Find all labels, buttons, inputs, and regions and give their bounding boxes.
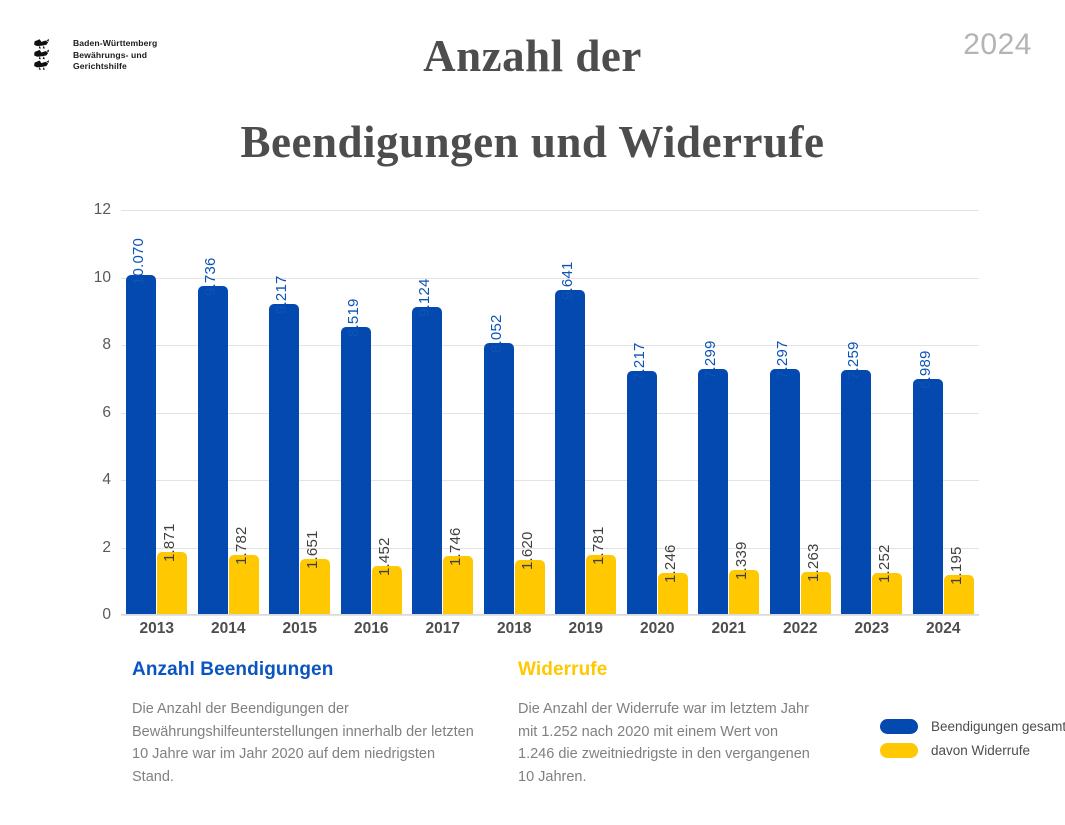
y-axis-tick-10: 10: [94, 269, 111, 287]
x-axis-tick-2013: 2013: [126, 620, 187, 638]
bar-group: 9.2171.651: [269, 210, 330, 615]
bar-group: 7.2971.263: [770, 210, 831, 615]
footer-heading-beendigungen: Anzahl Beendigungen: [132, 659, 477, 681]
bar-blue[interactable]: [913, 379, 943, 615]
bar-value-label: 6.989: [917, 351, 934, 390]
bar-value-label: 1.339: [733, 541, 750, 580]
bar-value-label: 1.452: [376, 537, 393, 576]
bar-group: 8.5191.452: [341, 210, 402, 615]
y-axis-tick-0: 0: [102, 606, 111, 624]
bar-value-label: 7.299: [702, 340, 719, 379]
bar-blue[interactable]: [698, 369, 728, 615]
bar-value-label: 7.217: [631, 343, 648, 382]
bar-group: 7.2171.246: [627, 210, 688, 615]
y-axis-tick-4: 4: [102, 471, 111, 489]
footer-heading-widerrufe: Widerrufe: [518, 659, 818, 681]
bar-group: 9.1241.746: [412, 210, 473, 615]
bar-group: 9.7361.782: [198, 210, 259, 615]
chart-legend: Beendigungen gesamtdavon Widerrufe: [880, 714, 1065, 762]
chart-bars-area: 10.0701.8719.7361.7829.2171.6518.5191.45…: [121, 210, 979, 615]
bar-value-label: 7.259: [845, 341, 862, 380]
bar-blue[interactable]: [341, 327, 371, 615]
x-axis-tick-2022: 2022: [770, 620, 831, 638]
bar-blue[interactable]: [555, 290, 585, 615]
legend-item[interactable]: davon Widerrufe: [880, 738, 1065, 762]
footer-column-widerrufe: Widerrufe Die Anzahl der Widerrufe war i…: [518, 659, 818, 788]
bar-value-label: 1.782: [233, 526, 250, 565]
bar-blue[interactable]: [770, 369, 800, 615]
bar-group: 6.9891.195: [913, 210, 974, 615]
bar-value-label: 9.736: [202, 258, 219, 297]
bar-value-label: 10.070: [130, 238, 147, 285]
y-axis-tick-2: 2: [102, 539, 111, 557]
legend-item[interactable]: Beendigungen gesamt: [880, 714, 1065, 738]
x-axis-tick-2021: 2021: [698, 620, 759, 638]
legend-swatch-icon: [880, 719, 918, 734]
x-axis-tick-2018: 2018: [484, 620, 545, 638]
y-axis-tick-6: 6: [102, 404, 111, 422]
bar-value-label: 1.195: [948, 546, 965, 585]
bar-value-label: 8.052: [488, 315, 505, 354]
x-axis-tick-2024: 2024: [913, 620, 974, 638]
x-axis-tick-2020: 2020: [627, 620, 688, 638]
legend-label: davon Widerrufe: [931, 743, 1030, 758]
bar-blue[interactable]: [198, 286, 228, 615]
bar-value-label: 8.519: [345, 299, 362, 338]
bar-group: 10.0701.871: [126, 210, 187, 615]
bar-blue[interactable]: [269, 304, 299, 615]
footer-column-beendigungen: Anzahl Beendigungen Die Anzahl der Beend…: [132, 659, 477, 788]
x-axis-tick-2015: 2015: [269, 620, 330, 638]
bar-value-label: 1.781: [590, 526, 607, 565]
y-axis-tick-8: 8: [102, 336, 111, 354]
x-axis-line: [121, 614, 979, 615]
bar-value-label: 1.651: [304, 531, 321, 570]
legend-swatch-icon: [880, 743, 918, 758]
bar-value-label: 1.246: [662, 544, 679, 583]
x-axis-tick-2023: 2023: [841, 620, 902, 638]
bar-value-label: 1.746: [447, 528, 464, 567]
x-axis-tick-2017: 2017: [412, 620, 473, 638]
bar-blue[interactable]: [126, 275, 156, 615]
bar-group: 7.2991.339: [698, 210, 759, 615]
bar-blue[interactable]: [627, 371, 657, 615]
bar-blue[interactable]: [412, 307, 442, 615]
x-axis-tick-2019: 2019: [555, 620, 616, 638]
bar-value-label: 9.124: [416, 279, 433, 318]
bar-value-label: 1.263: [805, 544, 822, 583]
bar-chart: 024681012 10.0701.8719.7361.7829.2171.65…: [0, 0, 1065, 650]
bar-value-label: 9.641: [559, 261, 576, 300]
x-axis-tick-2014: 2014: [198, 620, 259, 638]
legend-label: Beendigungen gesamt: [931, 719, 1065, 734]
gridline: [121, 615, 979, 616]
bar-value-label: 1.871: [161, 523, 178, 562]
bar-value-label: 1.620: [519, 532, 536, 571]
bar-blue[interactable]: [484, 343, 514, 615]
y-axis-tick-12: 12: [94, 201, 111, 219]
bar-value-label: 1.252: [876, 544, 893, 583]
bar-group: 7.2591.252: [841, 210, 902, 615]
bar-value-label: 7.297: [774, 340, 791, 379]
x-axis-tick-labels: 2013201420152016201720182019202020212022…: [121, 620, 979, 646]
footer-body-beendigungen: Die Anzahl der Beendigungen der Bewährun…: [132, 698, 477, 788]
bar-blue[interactable]: [841, 370, 871, 615]
y-axis-tick-labels: 024681012: [85, 210, 111, 615]
bar-value-label: 9.217: [273, 275, 290, 314]
bar-group: 8.0521.620: [484, 210, 545, 615]
footer-body-widerrufe: Die Anzahl der Widerrufe war im letztem …: [518, 698, 818, 788]
bar-group: 9.6411.781: [555, 210, 616, 615]
x-axis-tick-2016: 2016: [341, 620, 402, 638]
